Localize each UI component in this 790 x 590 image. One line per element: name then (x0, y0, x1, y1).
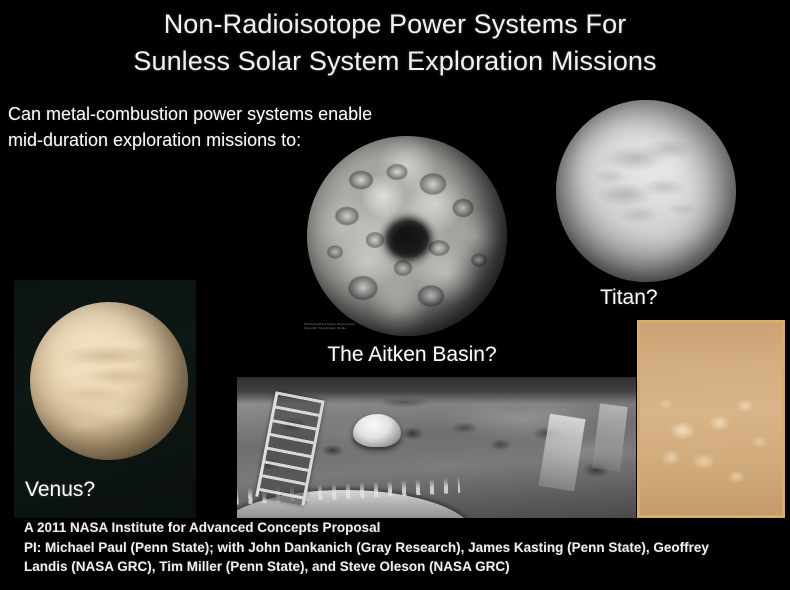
slide-title-line-1: Non-Radioisotope Power Systems For (0, 6, 790, 43)
venus-globe-graphic (30, 302, 188, 460)
titan-surface-image (637, 320, 785, 518)
credits-line-1: A 2011 NASA Institute for Advanced Conce… (24, 518, 784, 538)
venus-label: Venus? (25, 478, 95, 502)
shackleton-crater (387, 220, 429, 258)
credits-line-2: PI: Michael Paul (Penn State); with John… (24, 538, 784, 558)
venera-lens-cap (353, 414, 401, 448)
venera-panorama-image (237, 377, 636, 518)
aitken-basin-image: NASA/Goddard Space Flight Center Scienti… (297, 132, 517, 354)
slide-title: Non-Radioisotope Power Systems For Sunle… (0, 6, 790, 80)
presentation-slide: Non-Radioisotope Power Systems For Sunle… (0, 0, 790, 590)
slide-title-line-2: Sunless Solar System Exploration Mission… (0, 43, 790, 80)
titan-globe-image (548, 96, 743, 292)
titan-globe-graphic (556, 100, 736, 282)
credits-block: A 2011 NASA Institute for Advanced Conce… (24, 518, 784, 577)
titan-label: Titan? (600, 286, 658, 310)
lead-question-line-1: Can metal-combustion power systems enabl… (8, 101, 372, 127)
credits-line-3: Landis (NASA GRC), Tim Miller (Penn Stat… (24, 557, 784, 577)
image-credit-caption: NASA/Goddard Space Flight Center Scienti… (304, 322, 366, 330)
titan-surface-graphic (640, 323, 782, 515)
moon-globe-graphic (307, 136, 507, 336)
aitken-basin-label: The Aitken Basin? (297, 343, 527, 367)
